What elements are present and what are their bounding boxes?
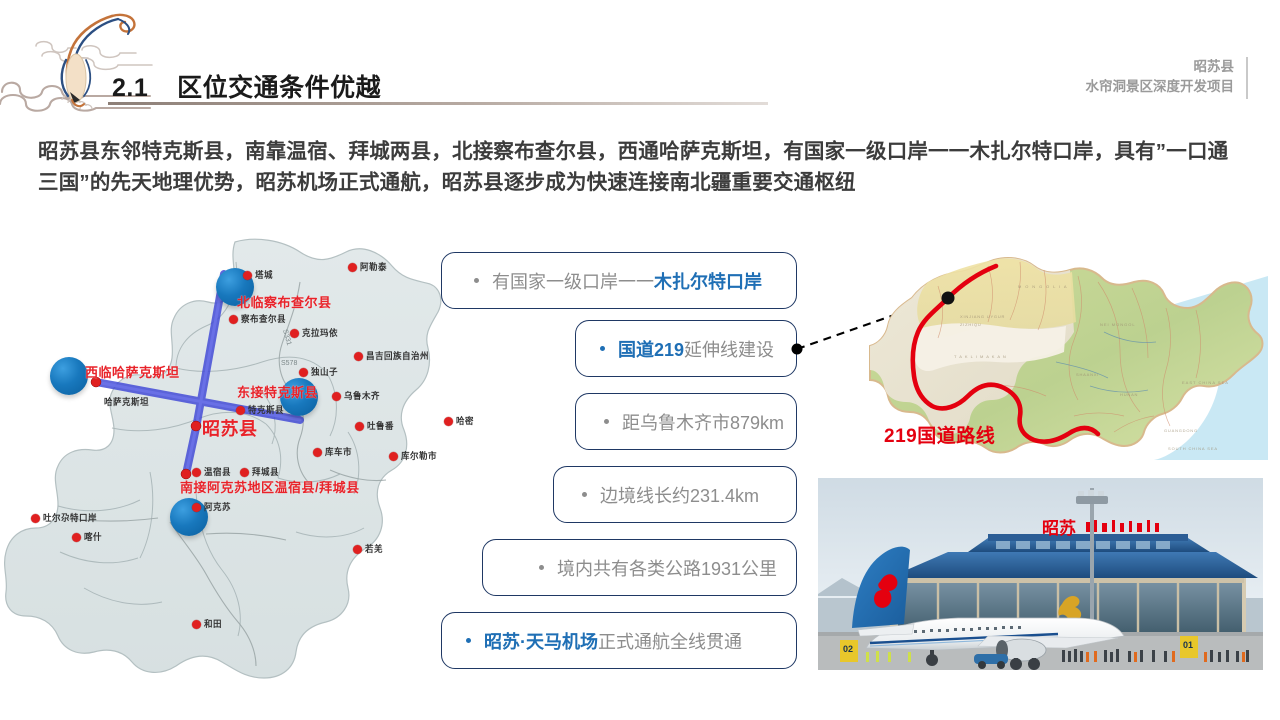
city-dot (290, 329, 299, 338)
g219-route-label: 219国道路线 (884, 421, 995, 448)
svg-text:EAST CHINA SEA: EAST CHINA SEA (1182, 380, 1229, 385)
map-city-qapqal: 察布查尔县 (229, 313, 286, 325)
map-city-turugart-port: 吐尔尕特口岸 (31, 512, 97, 524)
city-dot (192, 620, 201, 629)
svg-text:XINJIANG UYGUR: XINJIANG UYGUR (960, 314, 1005, 319)
map-label-north: 北临察布查尔县 (237, 292, 332, 311)
map-label-east: 东接特克斯县 (237, 382, 318, 401)
airport-photo: 昭苏 (818, 478, 1263, 670)
bullet-text-highlight: 木扎尔特口岸 (654, 268, 762, 294)
bullet-text: 境内共有各类公路1931公里 (557, 555, 777, 581)
map-city-kashgar: 喀什 (72, 531, 102, 543)
svg-text:SHAANXI: SHAANXI (1076, 372, 1099, 377)
bullet-dot (604, 419, 609, 424)
city-dot (348, 263, 357, 272)
map-label-zhaosu: 昭苏县 (202, 415, 258, 441)
svg-text:S578: S578 (281, 360, 297, 367)
lead-paragraph: 昭苏县东邻特克斯县，南靠温宿、拜城两县，北接察布查尔县，西通哈萨克斯坦，有国家一… (38, 136, 1248, 198)
bullet-text: 距乌鲁木齐市879km (622, 409, 784, 435)
blue-ball-west (50, 357, 88, 395)
map-city-urumqi: 乌鲁木齐 (332, 390, 380, 402)
bullet-dot (582, 492, 587, 497)
bullet-text-suffix: 延伸线建设 (684, 336, 774, 362)
city-dot (229, 315, 238, 324)
header-project-name: 水帘洞景区深度开发项目 (1086, 77, 1235, 97)
map-city-dushanzi: 独山子 (299, 366, 338, 378)
city-dot (192, 503, 201, 512)
xinjiang-region-map: S331 S578 (0, 222, 450, 692)
bullet-card-highway-length[interactable]: 境内共有各类公路1931公里 (482, 539, 797, 596)
header-org-name: 昭苏县 (1086, 57, 1235, 77)
zhaosu-map-point (942, 292, 955, 305)
bullet-card-airport[interactable]: 昭苏·天马机场 正式通航全线贯通 (441, 612, 797, 669)
map-city-hami: 哈密 (444, 415, 474, 427)
city-dot (192, 468, 201, 477)
bullet-text: 边境线长约231.4km (600, 482, 759, 508)
map-city-turpan: 吐鲁番 (355, 420, 394, 432)
map-city-karamay: 克拉玛依 (290, 327, 338, 339)
map-label-west: 西临哈萨克斯坦 (85, 362, 180, 381)
city-dot (72, 533, 81, 542)
gate-placard-right-text: 01 (1183, 640, 1193, 650)
header-divider (1246, 57, 1248, 99)
bullet-dot (474, 278, 479, 283)
city-dot (353, 545, 362, 554)
page-title: 2.1 区位交通条件优越 (112, 68, 381, 104)
bullet-text-highlight: 国道219 (618, 336, 684, 362)
slide-title-text: 区位交通条件优越 (177, 74, 381, 102)
svg-text:ZIZHIQU: ZIZHIQU (960, 322, 982, 327)
city-dot (299, 368, 308, 377)
svg-text:T A K L I M A K A N: T A K L I M A K A N (954, 354, 1007, 359)
header-project-info: 昭苏县 水帘洞景区深度开发项目 (1086, 57, 1235, 97)
map-city-korla: 库尔勒市 (389, 450, 437, 462)
city-dot (444, 417, 453, 426)
city-dot (354, 352, 363, 361)
map-city-hotan: 和田 (192, 618, 222, 630)
bullet-dot (466, 638, 471, 643)
slide-number: 2.1 (112, 74, 148, 102)
svg-text:NEI MONGOL: NEI MONGOL (1100, 322, 1136, 327)
svg-text:HUNAN: HUNAN (1120, 392, 1138, 397)
bullet-card-border-length[interactable]: 边境线长约231.4km (553, 466, 797, 523)
map-city-baicheng: 拜城县 (240, 466, 279, 478)
svg-text:SOUTH CHINA SEA: SOUTH CHINA SEA (1168, 446, 1218, 451)
city-dot (31, 514, 40, 523)
city-dot (355, 422, 364, 431)
bullet-card-port[interactable]: 有国家一级口岸一一 木扎尔特口岸 (441, 252, 797, 309)
terminal-sign-text: 昭苏 (1042, 518, 1076, 538)
map-city-kuqa: 库车市 (313, 446, 352, 458)
map-city-ruoqiang: 若羌 (353, 543, 383, 555)
bullet-card-urumqi-distance[interactable]: 距乌鲁木齐市879km (575, 393, 797, 450)
gate-placard-left-text: 02 (843, 644, 853, 654)
city-dot (243, 271, 252, 280)
map-city-aksu: 阿克苏 (192, 501, 231, 513)
city-dot (236, 406, 245, 415)
city-dot (240, 468, 249, 477)
title-underline-rule (108, 102, 768, 105)
bullet-card-g219[interactable]: 国道219 延伸线建设 (575, 320, 797, 377)
bullet-dot (600, 346, 605, 351)
map-label-south: 南接阿克苏地区温宿县/拜城县 (180, 477, 360, 496)
airport-photo-illustration: 昭苏 (818, 478, 1263, 670)
map-city-kazakhstan: 哈萨克斯坦 (104, 396, 149, 408)
svg-text:GUANGDONG: GUANGDONG (1164, 428, 1198, 433)
map-city-changji: 昌吉回族自治州 (354, 350, 429, 362)
bullet-text-highlight: 昭苏·天马机场 (484, 628, 598, 654)
map-city-altay: 阿勒泰 (348, 261, 387, 273)
svg-text:M O N G O L I A: M O N G O L I A (1018, 284, 1068, 289)
city-dot (332, 392, 341, 401)
map-city-wensu: 温宿县 (192, 466, 231, 478)
map-city-tacheng: 塔城 (243, 269, 273, 281)
bullet-text-prefix: 有国家一级口岸一一 (492, 268, 654, 294)
city-dot (313, 448, 322, 457)
bullet-dot (539, 565, 544, 570)
bullet-text-suffix: 正式通航全线贯通 (598, 628, 742, 654)
city-dot (389, 452, 398, 461)
map-city-tekes: 特克斯县 (236, 404, 284, 416)
